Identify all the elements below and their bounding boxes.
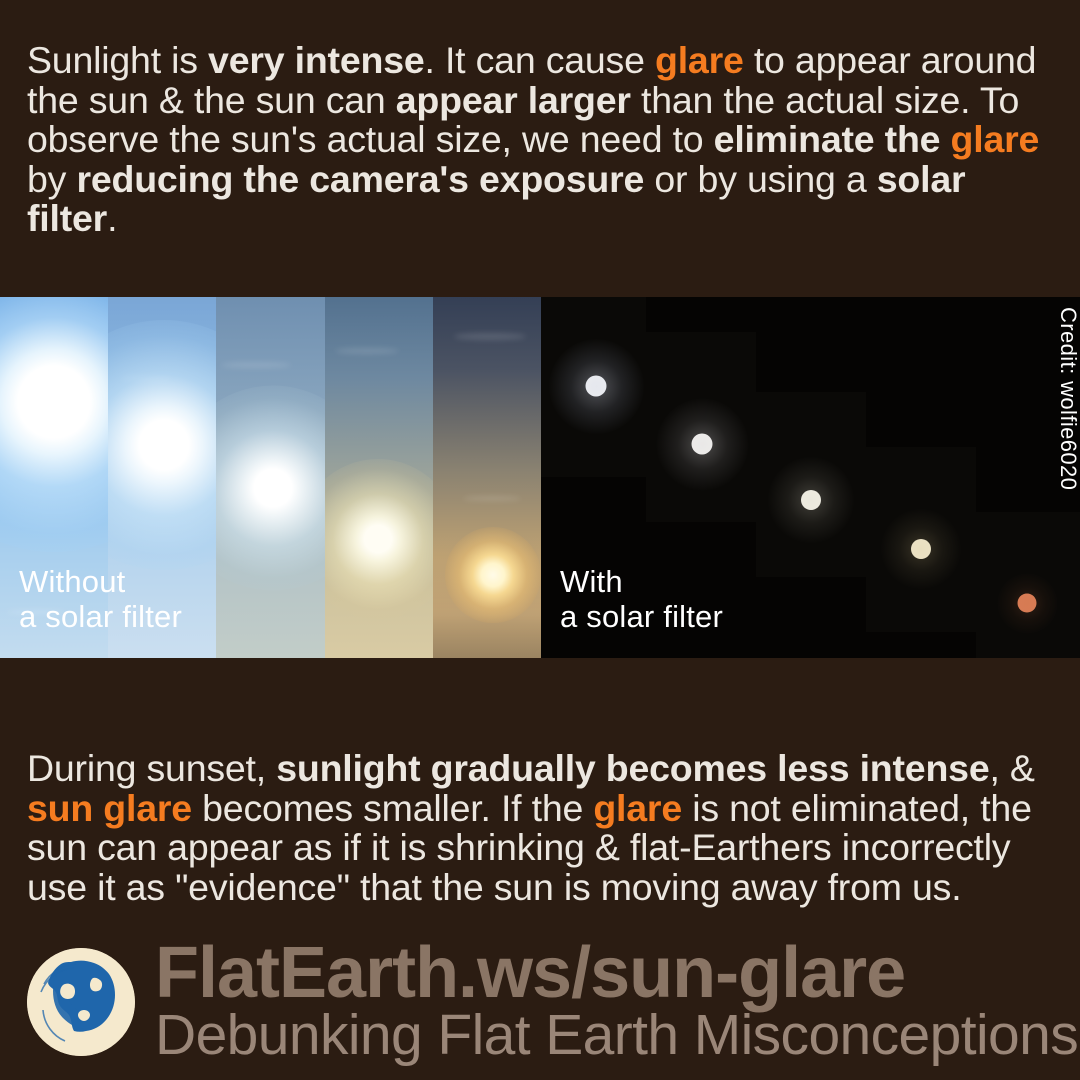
intro-text: to appear around (744, 39, 1037, 81)
intro-line-4: by reducing the camera's exposure or by … (27, 160, 1057, 239)
filtered-sun-5 (1018, 594, 1037, 613)
conclusion-line-4: use it as "evidence" that the sun is mov… (27, 868, 1057, 908)
conclusion-emphasis: sunlight gradually becomes less intense (276, 747, 989, 789)
sun-glare-5 (445, 527, 541, 623)
conclusion-accent-sun-glare: sun glare (27, 787, 192, 829)
intro-emphasis: appear larger (396, 79, 631, 121)
sky-strip-3 (216, 297, 324, 658)
intro-text: Sunlight is (27, 39, 208, 81)
intro-accent-glare: glare (655, 39, 744, 81)
intro-paragraph: Sunlight is very intense. It can cause g… (27, 41, 1057, 239)
panel-without-solar-filter: Without a solar filter (0, 297, 541, 658)
intro-text: the sun & the sun can (27, 79, 396, 121)
flat-earth-globe-logo (27, 948, 135, 1056)
caption-with-solar-filter: With a solar filter (560, 564, 723, 634)
intro-text: than the actual size. To (631, 79, 1019, 121)
filtered-sun-1 (586, 376, 607, 397)
intro-line-3: observe the sun's actual size, we need t… (27, 120, 1057, 160)
cloud-wisp (221, 362, 291, 368)
cloud-wisp (463, 496, 521, 501)
cloud-wisp (454, 333, 526, 340)
intro-text: . (107, 197, 117, 239)
conclusion-line-1: During sunset, sunlight gradually become… (27, 749, 1057, 789)
cloud-wisp (335, 348, 399, 354)
conclusion-text: During sunset, (27, 747, 276, 789)
filtered-sun-4 (911, 539, 931, 559)
comparison-image-band: Without a solar filter With a solar filt… (0, 297, 1080, 658)
sky-strip-4 (325, 297, 433, 658)
filtered-sun-3 (801, 490, 821, 510)
intro-emphasis: very intense (208, 39, 424, 81)
panel-with-solar-filter: With a solar filter Credit: wolfie6020 (541, 297, 1080, 658)
intro-emphasis: eliminate the (714, 118, 951, 160)
image-credit: Credit: wolfie6020 (1055, 307, 1080, 490)
conclusion-paragraph: During sunset, sunlight gradually become… (27, 749, 1057, 907)
conclusion-line-3: sun can appear as if it is shrinking & f… (27, 828, 1057, 868)
filtered-sun-2 (692, 434, 713, 455)
sun-glare-3 (216, 386, 324, 591)
intro-text: . It can cause (425, 39, 655, 81)
sun-glare-2 (108, 320, 216, 570)
intro-text: by (27, 158, 76, 200)
conclusion-text: is not eliminated, the (682, 787, 1032, 829)
sky-strip-5 (433, 297, 541, 658)
intro-accent-glare: glare (951, 118, 1040, 160)
sun-glare-4 (325, 459, 433, 619)
site-tagline: Debunking Flat Earth Misconceptions (155, 1002, 1078, 1068)
intro-text: or by using a (644, 158, 877, 200)
sun-glare-1 (0, 297, 108, 552)
intro-emphasis: reducing the camera's exposure (76, 158, 644, 200)
site-footer: FlatEarth.ws/sun-glare Debunking Flat Ea… (0, 940, 1080, 1080)
intro-line-2: the sun & the sun can appear larger than… (27, 81, 1057, 121)
conclusion-text: becomes smaller. If the (192, 787, 593, 829)
caption-without-solar-filter: Without a solar filter (19, 564, 182, 634)
conclusion-accent-glare: glare (593, 787, 682, 829)
conclusion-text: , & (989, 747, 1034, 789)
intro-line-1: Sunlight is very intense. It can cause g… (27, 41, 1057, 81)
intro-text: observe the sun's actual size, we need t… (27, 118, 714, 160)
conclusion-line-2: sun glare becomes smaller. If the glare … (27, 789, 1057, 829)
